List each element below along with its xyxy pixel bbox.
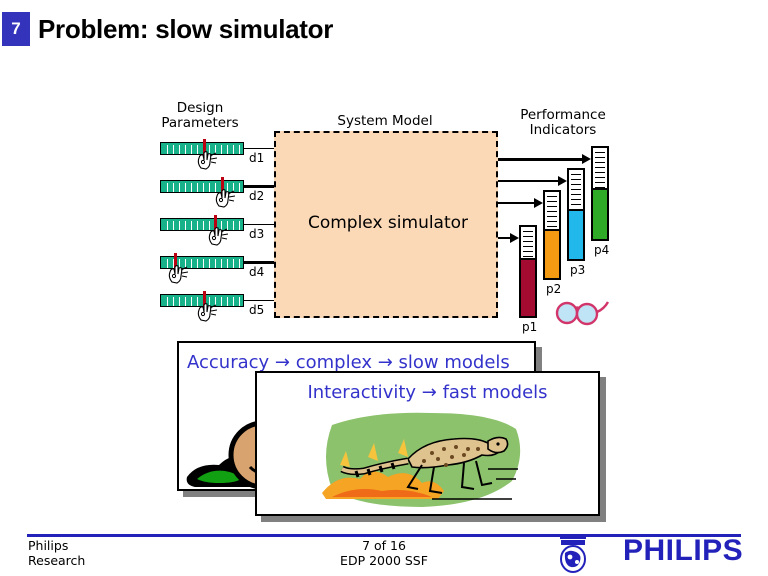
performance-indicators-heading: Performance Indicators <box>498 108 628 138</box>
indicator-tick <box>571 189 581 190</box>
complex-simulator-label: Complex simulator <box>276 213 500 233</box>
indicator-tick <box>523 231 533 232</box>
hand-cursor-icon <box>195 303 217 322</box>
indicator-label-p1: p1 <box>522 320 537 334</box>
slider-tick <box>179 145 180 154</box>
slider-tick <box>185 297 186 306</box>
system-model-box: Complex simulator <box>274 131 498 318</box>
hand-cursor-icon <box>195 151 217 170</box>
slider-tick <box>191 145 192 154</box>
indicator-tick <box>595 157 605 158</box>
slider-tick <box>167 183 168 192</box>
design-parameters-heading: Design Parameters <box>150 101 250 131</box>
philips-shield-icon <box>556 535 590 573</box>
indicator-tick <box>571 179 581 180</box>
hand-cursor-icon <box>206 227 228 246</box>
footer-center: 7 of 16 EDP 2000 SSF <box>284 538 484 568</box>
arrow-to-p2 <box>498 202 534 204</box>
slider-tick <box>167 145 168 154</box>
indicator-fill-p4 <box>593 188 607 239</box>
indicator-tick <box>571 204 581 205</box>
slider-tick <box>191 297 192 306</box>
slider-tick <box>233 221 234 230</box>
indicator-tick <box>547 221 557 222</box>
slider-tick <box>191 183 192 192</box>
slider-tick <box>203 221 204 230</box>
footer-left: Philips Research <box>28 538 85 568</box>
performance-indicators-heading-line1: Performance <box>498 108 628 123</box>
slider-tick <box>191 259 192 268</box>
indicator-tick <box>595 182 605 183</box>
footer-page-indicator: 7 of 16 <box>284 538 484 553</box>
param-label-d1: d1 <box>249 151 264 165</box>
slider-tick <box>185 183 186 192</box>
slider-tick <box>197 259 198 268</box>
slider-tick <box>227 259 228 268</box>
indicator-tick <box>547 226 557 227</box>
indicator-tick <box>523 236 533 237</box>
indicator-tick <box>595 177 605 178</box>
slider-d4[interactable] <box>160 256 244 269</box>
slider-d5[interactable] <box>160 294 244 307</box>
wire-d3 <box>244 224 274 225</box>
slider-tick <box>239 259 240 268</box>
slider-tick <box>167 221 168 230</box>
slider-d3[interactable] <box>160 218 244 231</box>
callout-fast-text: Interactivity → fast models <box>257 382 598 403</box>
callout-fast-models: Interactivity → fast models <box>255 371 600 516</box>
slider-tick <box>239 297 240 306</box>
slider-d1[interactable] <box>160 142 244 155</box>
indicator-tick <box>595 162 605 163</box>
slider-tick <box>185 221 186 230</box>
indicator-tick <box>523 251 533 252</box>
arrow-to-p3 <box>498 180 558 182</box>
arrow-to-p1 <box>498 237 510 239</box>
indicator-p1 <box>519 225 537 318</box>
slider-tick <box>179 221 180 230</box>
slider-tick <box>173 297 174 306</box>
wire-d5 <box>244 300 274 301</box>
arrow-to-p4 <box>498 158 582 161</box>
indicator-tick <box>547 201 557 202</box>
slider-tick <box>197 221 198 230</box>
indicator-tick <box>523 241 533 242</box>
cheetah-image <box>312 407 532 513</box>
slider-tick <box>191 221 192 230</box>
indicator-tick <box>595 167 605 168</box>
arrow-head-p1 <box>510 233 519 243</box>
slider-tick <box>233 145 234 154</box>
indicator-p2 <box>543 190 561 280</box>
param-label-d5: d5 <box>249 303 264 317</box>
param-label-d2: d2 <box>249 189 264 203</box>
indicator-fill-p2 <box>545 229 559 278</box>
indicator-tick <box>547 206 557 207</box>
slider-tick <box>209 183 210 192</box>
slider-tick <box>221 259 222 268</box>
indicator-tick <box>571 174 581 175</box>
slider-tick <box>233 297 234 306</box>
indicator-label-p3: p3 <box>570 263 585 277</box>
slider-tick <box>239 145 240 154</box>
slider-tick <box>221 145 222 154</box>
slider-tick <box>197 183 198 192</box>
slider-tick <box>203 183 204 192</box>
philips-wordmark: PHILIPS <box>623 534 743 568</box>
indicator-p3 <box>567 168 585 261</box>
arrow-head-p3 <box>558 176 567 186</box>
slider-track-d3[interactable] <box>160 218 244 231</box>
indicator-tick <box>523 246 533 247</box>
wire-d1 <box>244 148 274 149</box>
indicator-fill-p3 <box>569 209 583 259</box>
design-parameters-heading-line2: Parameters <box>150 116 250 131</box>
indicator-tick <box>571 199 581 200</box>
indicator-tick <box>571 184 581 185</box>
indicator-tick <box>547 196 557 197</box>
indicator-tick <box>595 172 605 173</box>
arrow-head-p2 <box>534 198 543 208</box>
slider-tick <box>227 145 228 154</box>
performance-indicators-heading-line2: Indicators <box>498 123 628 138</box>
slider-tick <box>209 259 210 268</box>
callout-slow-text: Accuracy → complex → slow models <box>179 352 534 373</box>
slider-tick <box>173 221 174 230</box>
slider-tick <box>185 145 186 154</box>
diagram-canvas: Design Parameters System Model Performan… <box>0 0 768 340</box>
design-parameters-heading-line1: Design <box>150 101 250 116</box>
slider-tick <box>239 221 240 230</box>
param-label-d3: d3 <box>249 227 264 241</box>
slider-tick <box>203 259 204 268</box>
slider-tick <box>179 297 180 306</box>
arrow-head-p4 <box>582 154 591 164</box>
slider-tick <box>173 183 174 192</box>
wire-d2 <box>244 185 274 188</box>
system-model-heading: System Model <box>300 114 470 129</box>
indicator-fill-p1 <box>521 258 535 316</box>
wire-d4 <box>244 261 274 264</box>
eyeglasses-icon <box>552 294 610 328</box>
indicator-tick <box>523 256 533 257</box>
indicator-p4 <box>591 146 609 241</box>
footer-event-label: EDP 2000 SSF <box>284 553 484 568</box>
indicator-tick <box>571 194 581 195</box>
slider-tick <box>239 183 240 192</box>
indicator-label-p4: p4 <box>594 243 609 257</box>
indicator-tick <box>547 216 557 217</box>
slider-d2[interactable] <box>160 180 244 193</box>
indicator-tick <box>547 211 557 212</box>
slider-tick <box>179 183 180 192</box>
slider-tick <box>221 297 222 306</box>
indicator-tick <box>595 152 605 153</box>
slider-tick <box>173 145 174 154</box>
footer-left-line2: Research <box>28 553 85 568</box>
slider-tick <box>227 297 228 306</box>
hand-cursor-icon <box>166 265 188 284</box>
param-label-d4: d4 <box>249 265 264 279</box>
hand-cursor-icon <box>213 189 235 208</box>
slider-tick <box>215 259 216 268</box>
slider-tick <box>167 297 168 306</box>
slider-tick <box>233 259 234 268</box>
footer-left-line1: Philips <box>28 538 85 553</box>
